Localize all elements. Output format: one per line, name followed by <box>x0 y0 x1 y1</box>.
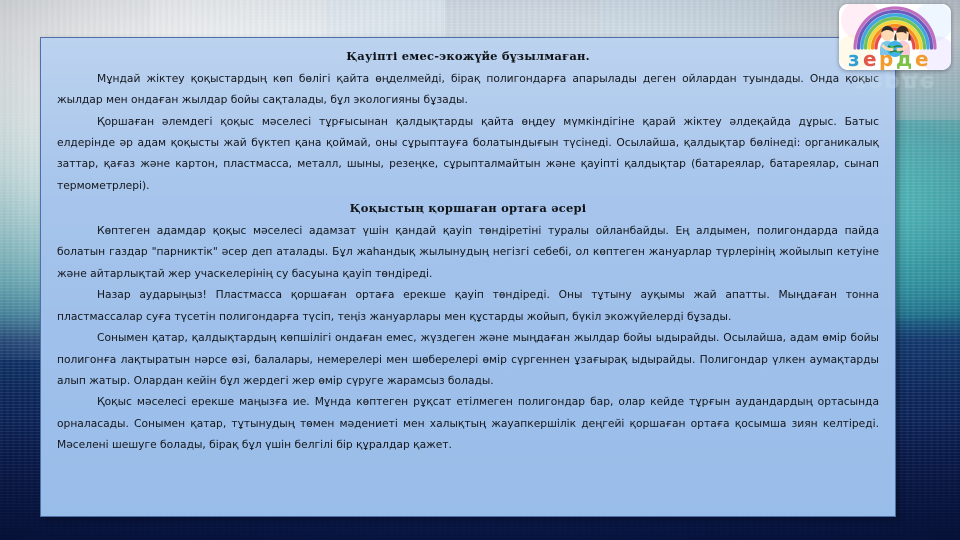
slide-text-card: Қауіпті емес-экожүйе бұзылмаған. Мұндай … <box>40 37 896 517</box>
svg-text:р: р <box>879 47 893 70</box>
paragraph: Мұндай жіктеу қоқыстардың көп бөлігі қай… <box>57 68 879 111</box>
zerde-logo[interactable]: з е р д е <box>839 4 951 70</box>
svg-text:з: з <box>848 47 860 70</box>
svg-text:е: е <box>863 47 877 70</box>
heading-primary: Қауіпті емес-экожүйе бұзылмаған. <box>57 48 879 66</box>
paragraph: Көптеген адамдар қоқыс мәселесі адамзат … <box>57 220 879 284</box>
slide: Қауіпті емес-экожүйе бұзылмаған. Мұндай … <box>0 0 960 540</box>
heading-secondary: Қоқыстың қоршаған ортаға әсері <box>57 200 879 218</box>
paragraph: Назар аударыңыз! Пластмасса қоршаған орт… <box>57 284 879 327</box>
svg-text:д: д <box>896 47 912 70</box>
paragraph: Сонымен қатар, қалдықтардың көпшілігі он… <box>57 327 879 391</box>
paragraph: Қоршаған әлемдегі қоқыс мәселесі тұрғысы… <box>57 111 879 197</box>
svg-text:е: е <box>915 47 929 70</box>
zerde-logo-icon: з е р д е <box>839 4 951 70</box>
paragraph: Қоқыс мәселесі ерекше маңызға ие. Мұнда … <box>57 391 879 455</box>
